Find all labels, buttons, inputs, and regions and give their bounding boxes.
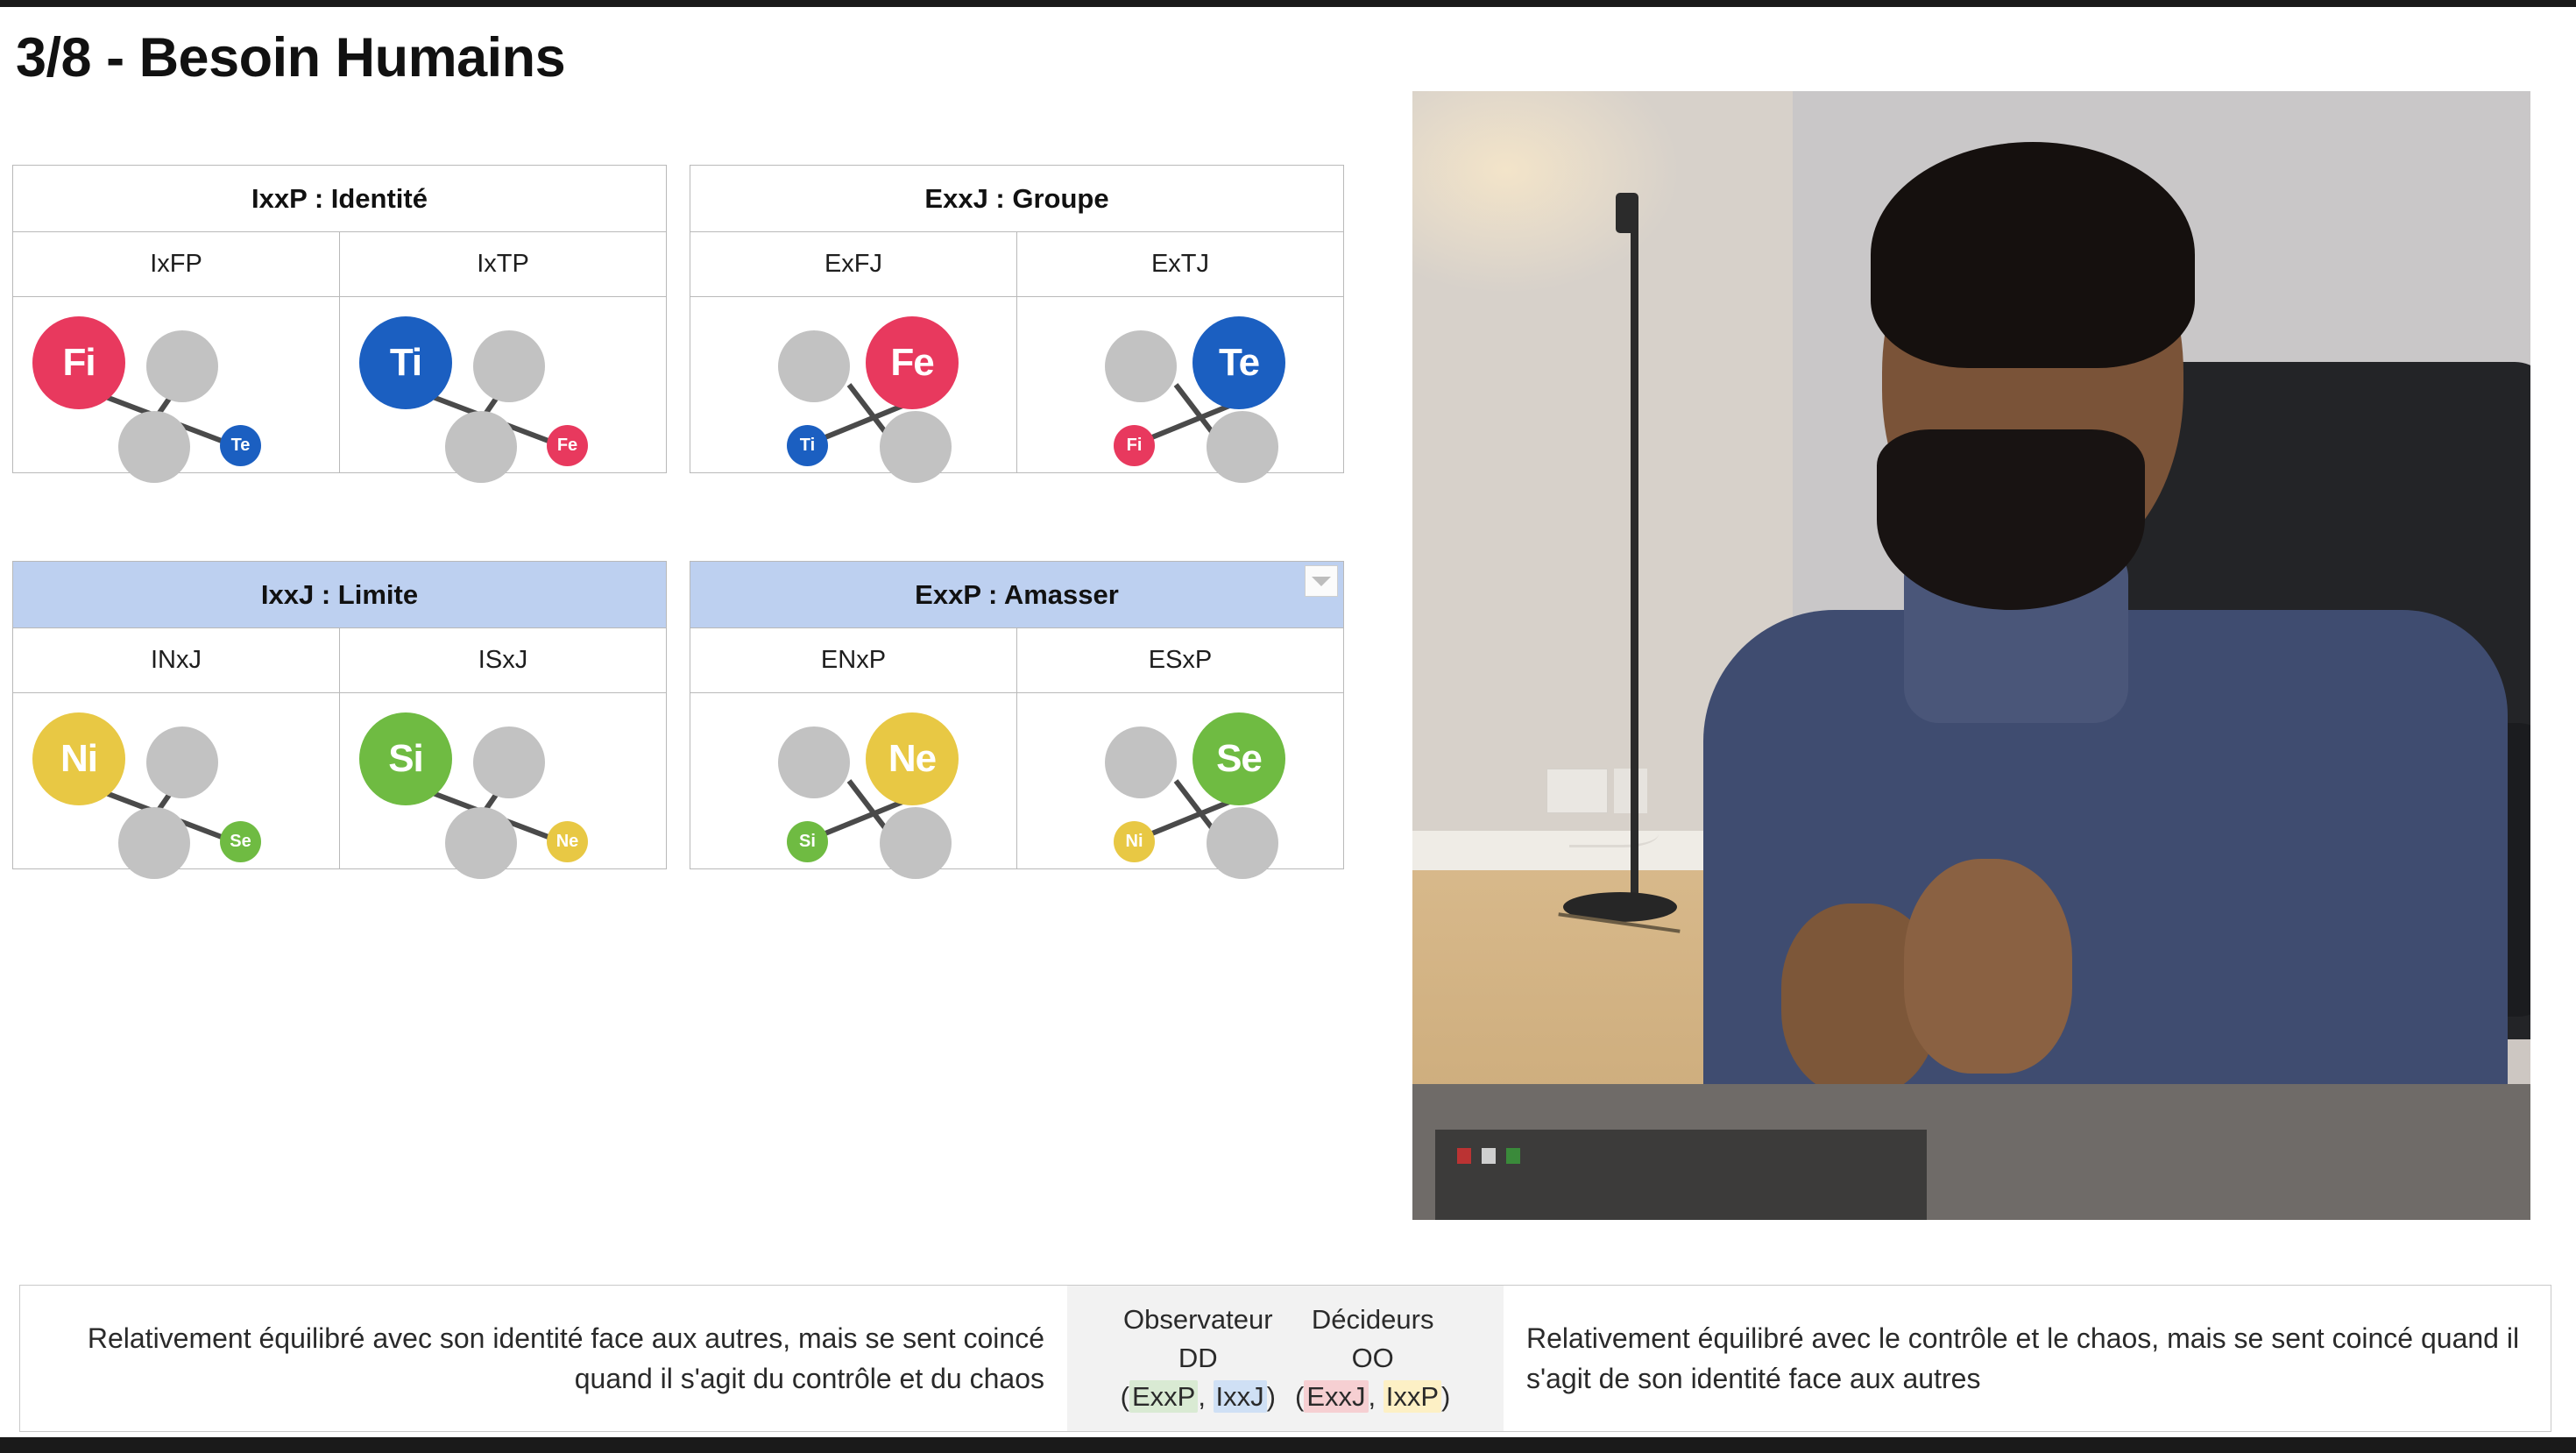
person-right-hand [1904,859,2071,1074]
cell-enxp[interactable]: Ne Si [690,693,1016,868]
table-header-label: IxxP : Identité [251,183,428,215]
gray-circle-secondary [1105,330,1177,402]
microphone-icon [1616,193,1638,233]
inferior-function-badge: Si [787,821,828,862]
dominant-function-circle: Ti [359,316,452,409]
lamp-glow [1412,91,1681,294]
gray-circle-secondary [473,330,545,402]
gray-circle-secondary [473,726,545,798]
tables-row-2: IxxJ : Limite INxJ ISxJ [12,561,1344,869]
category-code: DD [1121,1339,1276,1378]
gray-circle-tertiary [118,411,190,483]
subheader-enxp[interactable]: ENxP [690,628,1016,692]
category-pair: (ExxP, IxxJ) [1121,1378,1276,1416]
function-diagram-ixfp: Fi Te [13,297,339,472]
page-title: 3/8 - Besoin Humains [16,26,565,89]
gray-circle-tertiary [445,807,517,879]
category-summary-panel: Observateur DD (ExxP, IxxJ) Décideurs OO… [1067,1286,1504,1431]
inferior-function-badge: Fi [1114,425,1155,466]
top-letterbox-bar [0,0,2576,7]
function-diagram-exfj: Fe Ti [690,297,1016,472]
paren-open: ( [1295,1381,1304,1412]
paren-close: ) [1267,1381,1276,1412]
function-diagram-isxj: Si Ne [340,693,666,868]
gray-circle-tertiary [118,807,190,879]
bottom-letterbox-bar [0,1437,2576,1453]
inferior-function-badge: Te [220,425,261,466]
category-code: OO [1295,1339,1450,1378]
subheader-esxp[interactable]: ESxP [1016,628,1343,692]
cell-ixtp[interactable]: Ti Fe [339,297,666,472]
paren-close: ) [1441,1381,1450,1412]
table-header-exxj[interactable]: ExxJ : Groupe [690,166,1343,232]
table-cells-ixxj: Ni Se Si Ne [13,693,666,868]
table-ixxp[interactable]: IxxP : Identité IxFP IxTP [12,165,667,473]
keyboard-key-green [1506,1148,1520,1164]
dominant-function-circle: Te [1192,316,1285,409]
subheader-ixfp[interactable]: IxFP [13,232,339,296]
inferior-function-badge: Fe [547,425,588,466]
token-separator: , [1198,1381,1213,1412]
table-header-exxp[interactable]: ExxP : Amasser [690,562,1343,628]
function-diagram-inxj: Ni Se [13,693,339,868]
category-observateur: Observateur DD (ExxP, IxxJ) [1121,1301,1276,1416]
table-header-ixxp[interactable]: IxxP : Identité [13,166,666,232]
gray-circle-tertiary [1207,807,1278,879]
chevron-down-icon [1312,577,1331,586]
table-exxp[interactable]: ExxP : Amasser ENxP ESxP [690,561,1344,869]
gray-circle-secondary [1105,726,1177,798]
table-cells-ixxp: Fi Te Ti Fe [13,297,666,472]
dominant-function-circle: Si [359,712,452,805]
table-subheaders-ixxj: INxJ ISxJ [13,628,666,693]
gray-circle-secondary [778,726,850,798]
table-header-ixxj[interactable]: IxxJ : Limite [13,562,666,628]
cell-isxj[interactable]: Si Ne [339,693,666,868]
inferior-function-badge: Ne [547,821,588,862]
table-exxj[interactable]: ExxJ : Groupe ExFJ ExTJ [690,165,1344,473]
cell-ixfp[interactable]: Fi Te [13,297,339,472]
function-diagram-ixtp: Ti Fe [340,297,666,472]
table-subheaders-exxp: ENxP ESxP [690,628,1343,693]
person-hair [1871,142,2195,368]
person-beard [1877,429,2145,610]
table-header-label: ExxP : Amasser [915,579,1119,611]
dominant-function-circle: Ne [866,712,959,805]
laptop [1435,1130,1927,1220]
category-pair: (ExxJ, IxxP) [1295,1378,1450,1416]
subheader-inxj[interactable]: INxJ [13,628,339,692]
paren-open: ( [1121,1381,1129,1412]
gray-circle-tertiary [445,411,517,483]
token-exxp: ExxP [1129,1380,1198,1413]
tables-grid: IxxP : Identité IxFP IxTP [12,165,1344,869]
description-right: Relativement équilibré avec le contrôle … [1504,1286,2551,1431]
inferior-function-badge: Ti [787,425,828,466]
diagram-links [690,297,1016,472]
filter-dropdown-button[interactable] [1305,565,1338,597]
token-ixxj: IxxJ [1214,1380,1267,1413]
slide-page: 3/8 - Besoin Humains IxxP : Identité IxF… [0,0,2576,1453]
subheader-exfj[interactable]: ExFJ [690,232,1016,296]
token-ixxp: IxxP [1384,1380,1441,1413]
gray-circle-secondary [146,726,218,798]
diagram-links [1017,693,1343,868]
table-cells-exxj: Fe Ti Te Fi [690,297,1343,472]
table-cells-exxp: Ne Si Se Ni [690,693,1343,868]
category-decideurs: Décideurs OO (ExxJ, IxxP) [1295,1301,1450,1416]
webcam-video-overlay[interactable] [1412,91,2530,1220]
keyboard-key-red [1457,1148,1471,1164]
inferior-function-badge: Se [220,821,261,862]
token-separator: , [1369,1381,1384,1412]
function-diagram-extj: Te Fi [1017,297,1343,472]
dominant-function-circle: Se [1192,712,1285,805]
cell-esxp[interactable]: Se Ni [1016,693,1343,868]
dominant-function-circle: Fi [32,316,125,409]
table-subheaders-exxj: ExFJ ExTJ [690,232,1343,297]
description-strip: Relativement équilibré avec son identité… [19,1285,2551,1432]
mic-stand-pole [1631,204,1638,904]
gray-circle-secondary [146,330,218,402]
cell-exfj[interactable]: Fe Ti [690,297,1016,472]
subheader-ixtp[interactable]: IxTP [339,232,666,296]
subheader-extj[interactable]: ExTJ [1016,232,1343,296]
table-header-label: ExxJ : Groupe [924,183,1108,215]
inferior-function-badge: Ni [1114,821,1155,862]
table-header-label: IxxJ : Limite [261,579,418,611]
tables-row-1: IxxP : Identité IxFP IxTP [12,165,1344,473]
gray-circle-tertiary [1207,411,1278,483]
table-ixxj[interactable]: IxxJ : Limite INxJ ISxJ [12,561,667,869]
diagram-links [690,693,1016,868]
keyboard-key-gray [1482,1148,1496,1164]
power-cord [1569,813,1659,847]
dominant-function-circle: Fe [866,316,959,409]
cell-inxj[interactable]: Ni Se [13,693,339,868]
diagram-links [1017,297,1343,472]
category-title: Décideurs [1295,1301,1450,1339]
function-diagram-esxp: Se Ni [1017,693,1343,868]
token-exxj: ExxJ [1304,1380,1368,1413]
gray-circle-tertiary [880,411,952,483]
category-title: Observateur [1121,1301,1276,1339]
gray-circle-secondary [778,330,850,402]
dominant-function-circle: Ni [32,712,125,805]
wall-socket [1546,769,1608,814]
function-diagram-enxp: Ne Si [690,693,1016,868]
cell-extj[interactable]: Te Fi [1016,297,1343,472]
table-subheaders-ixxp: IxFP IxTP [13,232,666,297]
gray-circle-tertiary [880,807,952,879]
description-left: Relativement équilibré avec son identité… [20,1286,1067,1431]
subheader-isxj[interactable]: ISxJ [339,628,666,692]
